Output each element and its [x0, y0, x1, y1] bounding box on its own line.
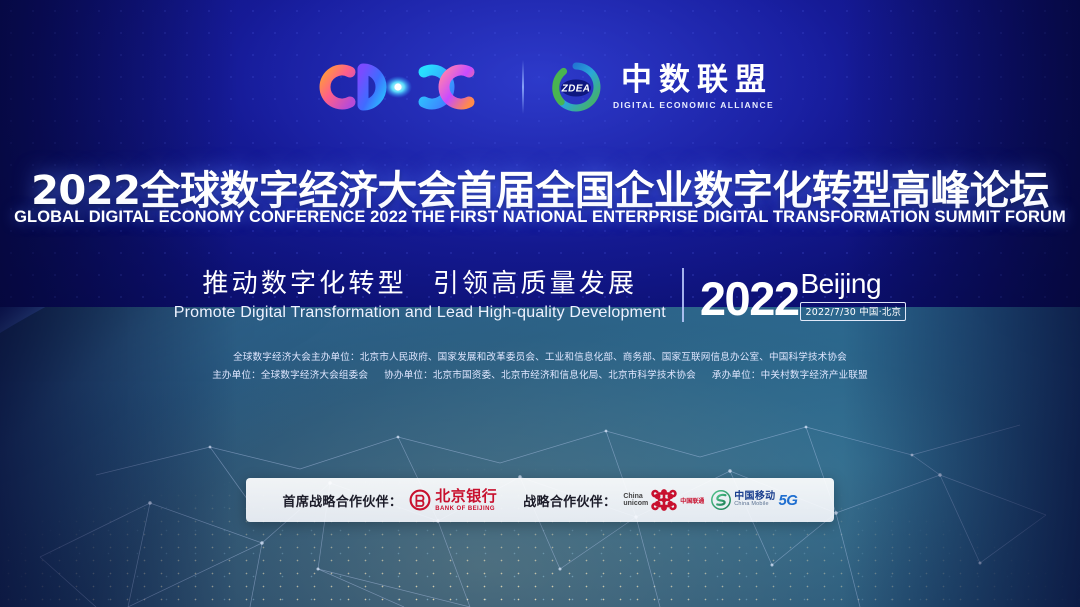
alliance-name-cn: 中数联盟 [614, 64, 773, 97]
bank-of-beijing-logo[interactable]: 北京银行 BANK OF BEIJING [409, 489, 497, 512]
year-city-block: 2022 Beijing 2022/7/30 中国·北京 [700, 270, 906, 321]
china-mobile-logo[interactable]: 中国移动 China Mobile 5G [711, 490, 797, 510]
slogan-row: 推动数字化转型引领高质量发展 Promote Digital Transform… [0, 268, 1080, 322]
unicom-en-word: unicom [623, 500, 648, 507]
slogan-block: 推动数字化转型引领高质量发展 Promote Digital Transform… [174, 268, 666, 322]
alliance-name-en: DIGITAL ECONOMIC ALLIANCE [613, 100, 774, 110]
svg-text:ZDEA: ZDEA [561, 84, 591, 95]
slogan-cn-part-b: 引领高质量发展 [433, 269, 637, 299]
china-mobile-swirl-icon [711, 490, 731, 510]
bank-of-beijing-name-cn: 北京银行 [435, 489, 497, 504]
organizer-undertaker: 承办单位：中关村数字经济产业联盟 [712, 370, 868, 381]
city-name: Beijing [800, 270, 881, 298]
china-unicom-name-en1: China [623, 493, 648, 500]
chief-partner-label: 首席战略合作伙伴： [283, 491, 403, 510]
logo-divider [522, 60, 524, 114]
slogan-cn-part-a: 推动数字化转型 [202, 269, 406, 299]
bank-of-beijing-icon [409, 489, 431, 511]
date-badge: 2022/7/30 中国·北京 [800, 302, 906, 321]
slogan-en: Promote Digital Transformation and Lead … [174, 304, 666, 322]
main-title-en: GLOBAL DIGITAL ECONOMY CONFERENCE 2022 T… [0, 208, 1080, 227]
sponsor-bar: 首席战略合作伙伴： 北京银行 BANK OF BEIJING 战略合作伙伴： C… [246, 478, 834, 522]
conference-banner: ZDEA 中数联盟 DIGITAL ECONOMIC ALLIANCE 2022… [0, 0, 1080, 607]
china-unicom-name-cn: 中国联通 [680, 496, 704, 505]
organizer-coorganizer: 协办单位：北京市国资委、北京市经济和信息化局、北京市科学技术协会 [384, 370, 696, 381]
zdea-mark-icon: ZDEA [550, 61, 602, 113]
slogan-divider [682, 268, 684, 322]
cdec-logo [306, 58, 496, 116]
bank-of-beijing-name-en: BANK OF BEIJING [435, 506, 497, 512]
organizer-host: 主办单位：全球数字经济大会组委会 [212, 370, 368, 381]
china-unicom-name-en2: unicom [623, 500, 648, 507]
china-mobile-5g-label: 5G [778, 492, 797, 509]
chief-partner-group: 首席战略合作伙伴： 北京银行 BANK OF BEIJING [283, 489, 498, 512]
alliance-logo: ZDEA 中数联盟 DIGITAL ECONOMIC ALLIANCE [550, 61, 774, 113]
organizer-credits: 全球数字经济大会主办单位：北京市人民政府、国家发展和改革委员会、工业和信息化部、… [0, 349, 1080, 385]
organizer-line-1: 全球数字经济大会主办单位：北京市人民政府、国家发展和改革委员会、工业和信息化部、… [0, 349, 1080, 367]
logo-row: ZDEA 中数联盟 DIGITAL ECONOMIC ALLIANCE [0, 58, 1080, 116]
china-unicom-knot-icon [651, 488, 677, 512]
china-mobile-name-en: China Mobile [734, 502, 775, 508]
slogan-cn: 推动数字化转型引领高质量发展 [202, 268, 637, 301]
china-unicom-logo[interactable]: China unicom [623, 488, 704, 512]
strategic-partner-label: 战略合作伙伴： [523, 491, 616, 510]
strategic-partner-group: 战略合作伙伴： China unicom [523, 488, 797, 512]
year-number: 2022 [700, 277, 799, 320]
organizer-line-2: 主办单位：全球数字经济大会组委会协办单位：北京市国资委、北京市经济和信息化局、北… [0, 367, 1080, 385]
